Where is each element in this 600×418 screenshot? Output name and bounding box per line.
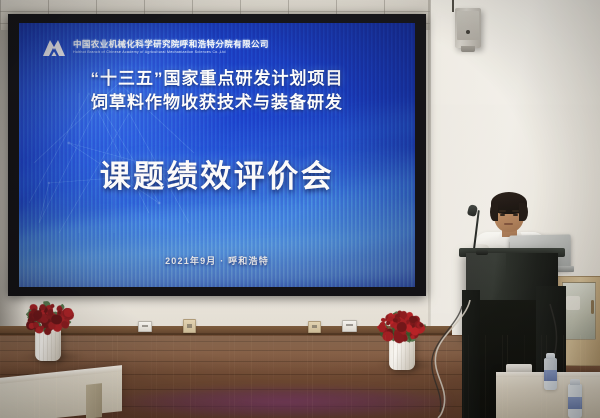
speaker-cable	[452, 0, 454, 12]
wall-outlet-1	[138, 321, 152, 332]
slide-title-block: “十三五”国家重点研发计划项目 饲草料作物收获技术与装备研发	[19, 67, 415, 115]
floor-grain	[173, 335, 174, 418]
water-bottle-1-cap	[546, 353, 555, 359]
floor-grain	[268, 335, 269, 418]
floor-grain	[463, 335, 464, 418]
floor-grain	[273, 335, 274, 418]
wall-speaker	[455, 8, 481, 48]
floor-grain	[39, 335, 40, 418]
floor-grain	[307, 335, 308, 418]
presenter-mouth	[504, 223, 513, 225]
floor-grain	[407, 335, 408, 418]
ceiling-tile-seam	[0, 0, 1, 34]
speaker-driver-icon	[466, 30, 470, 34]
floor-grain	[580, 335, 581, 418]
floor-grain	[468, 335, 469, 418]
wall-outlet-3	[308, 321, 321, 333]
floor-grain	[117, 335, 118, 418]
floor-grain	[312, 335, 313, 418]
floor-grain	[424, 335, 425, 418]
floor-grain	[17, 335, 18, 418]
floor-grain	[34, 335, 35, 418]
floor-grain	[524, 335, 525, 418]
company-name-en: Hohhot Branch of Chinese Academy of Agri…	[73, 51, 269, 54]
floor-grain	[134, 335, 135, 418]
floor-grain	[541, 335, 542, 418]
wall-outlet-4	[342, 320, 357, 332]
floor-grain	[585, 335, 586, 418]
floor-grain	[563, 335, 564, 418]
foreground-table-apron	[86, 383, 102, 418]
floor-grain	[78, 335, 79, 418]
floor-grain	[234, 335, 235, 418]
wall-outlet-2	[183, 319, 196, 333]
presenter-brow-left	[499, 210, 506, 212]
slide-title-line-1: “十三五”国家重点研发计划项目	[19, 67, 415, 91]
floor-grain	[151, 335, 152, 418]
slide-footer-date-location: 2021年9月 · 呼和浩特	[19, 254, 415, 267]
floor-grain	[190, 335, 191, 418]
slide-headline: 课题绩效评价会	[19, 151, 415, 196]
floor-grain	[329, 335, 330, 418]
water-bottle-2-cap	[570, 379, 580, 385]
presenter-hair-left	[490, 203, 498, 221]
presenter-brow-right	[512, 210, 519, 212]
floor-grain	[229, 335, 230, 418]
floor-grain	[112, 335, 113, 418]
floor-grain	[485, 335, 486, 418]
floor-grain	[385, 335, 386, 418]
mountain-peak-logo-icon	[41, 37, 67, 57]
slide-logo: 中国农业机械化科学研究院呼和浩特分院有限公司 Hohhot Branch of …	[41, 37, 269, 57]
floor-grain	[429, 335, 430, 418]
presentation-room-photo: 中国农业机械化科学研究院呼和浩特分院有限公司 Hohhot Branch of …	[0, 0, 600, 418]
speaker-face	[457, 11, 479, 40]
floor-grain	[195, 335, 196, 418]
speaker-bracket	[461, 46, 475, 52]
floor-grain	[390, 335, 391, 418]
floor-grain	[156, 335, 157, 418]
microphone-base	[476, 250, 488, 255]
floor-grain	[507, 335, 508, 418]
floor-grain	[95, 335, 96, 418]
projection-screen: 中国农业机械化科学研究院呼和浩特分院有限公司 Hohhot Branch of …	[19, 23, 415, 287]
presenter-hair-right	[519, 203, 528, 221]
floor-grain	[73, 335, 74, 418]
floor-grain	[0, 335, 1, 418]
slide-title-line-2: 饲草料作物收获技术与装备研发	[19, 91, 415, 115]
floor-grain	[212, 335, 213, 418]
floor-grain	[251, 335, 252, 418]
company-name-cn: 中国农业机械化科学研究院呼和浩特分院有限公司	[73, 40, 269, 49]
slide-logo-text: 中国农业机械化科学研究院呼和浩特分院有限公司 Hohhot Branch of …	[73, 40, 269, 55]
floor-grain	[546, 335, 547, 418]
floor-grain	[446, 335, 447, 418]
floor-grain	[368, 335, 369, 418]
floor-grain	[290, 335, 291, 418]
floor-grain	[346, 335, 347, 418]
floor-grain	[502, 335, 503, 418]
wall-corner	[428, 0, 431, 340]
floor-grain	[56, 335, 57, 418]
floor-grain	[351, 335, 352, 418]
